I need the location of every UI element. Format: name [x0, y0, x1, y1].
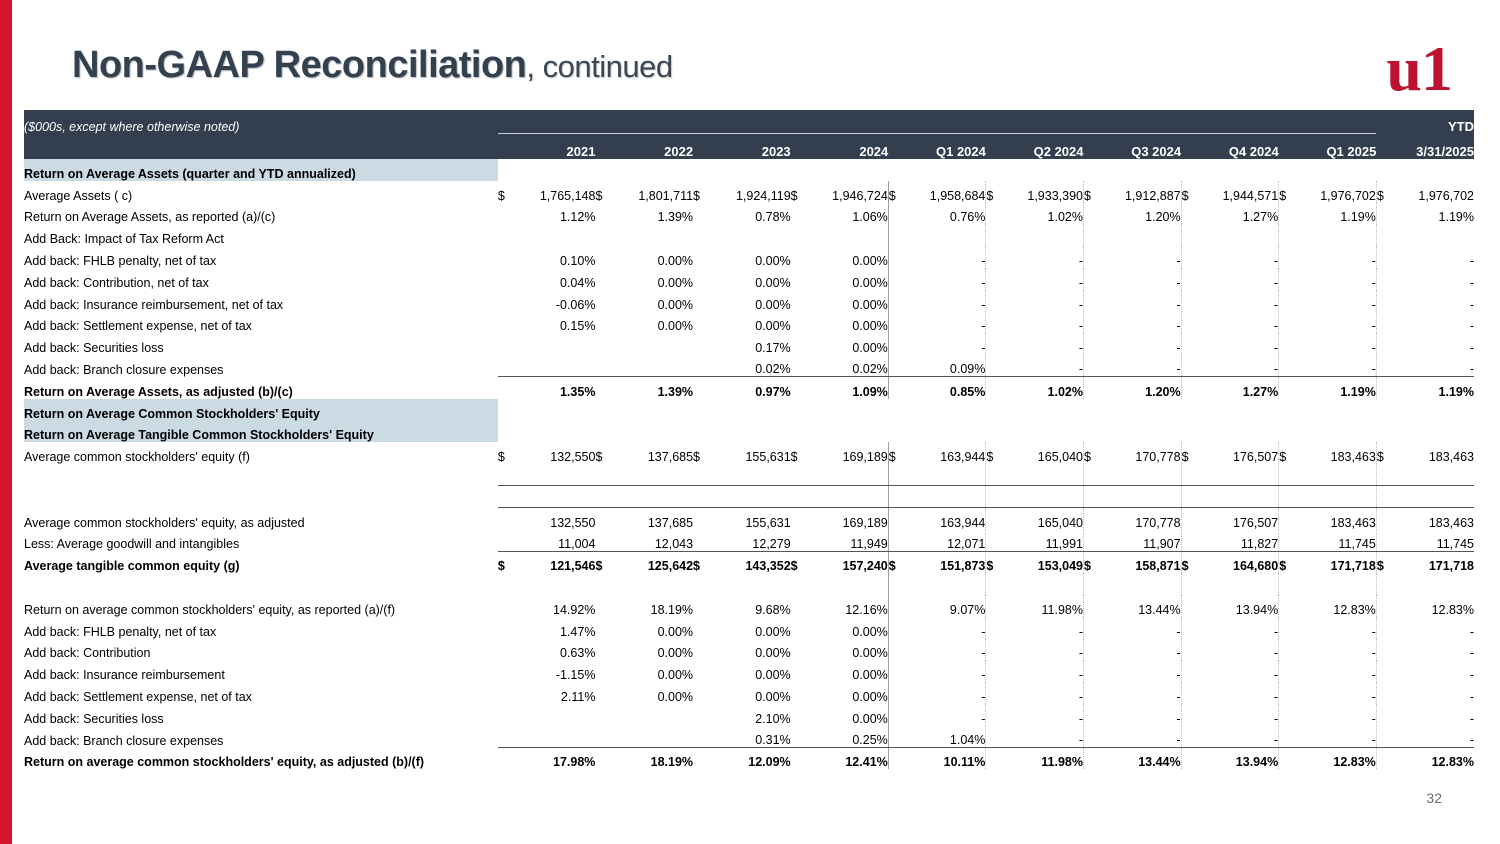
- data-cell: 18.19%: [612, 595, 693, 617]
- currency-symbol-cell: [595, 748, 611, 770]
- data-cell: 1.27%: [1197, 377, 1278, 399]
- currency-symbol-cell: [1376, 726, 1392, 748]
- currency-symbol-cell: [1376, 268, 1392, 290]
- currency-symbol-cell: [1279, 617, 1295, 639]
- currency-symbol-cell: [693, 355, 709, 377]
- currency-symbol-cell: [888, 333, 904, 355]
- currency-symbol-cell: [1279, 355, 1295, 377]
- currency-symbol-cell: [986, 508, 1002, 530]
- currency-symbol-cell: [791, 595, 807, 617]
- currency-symbol-cell: [888, 508, 904, 530]
- table-row: [24, 573, 1474, 595]
- currency-symbol-cell: [1083, 573, 1099, 595]
- data-cell: -: [1100, 312, 1181, 334]
- data-cell: 1,958,684: [905, 181, 986, 203]
- row-label: [24, 573, 498, 595]
- data-cell: [1100, 464, 1181, 486]
- currency-symbol-cell: $: [693, 551, 709, 573]
- row-label: Add back: Securities loss: [24, 704, 498, 726]
- header-spacer-cell: [1100, 110, 1181, 134]
- currency-symbol-cell: [693, 224, 709, 246]
- currency-symbol-cell: $: [498, 551, 514, 573]
- currency-symbol-cell: [888, 748, 904, 770]
- data-cell: 13.94%: [1197, 748, 1278, 770]
- data-cell: 183,463: [1295, 508, 1376, 530]
- currency-symbol-cell: [791, 639, 807, 661]
- data-cell: -: [1197, 617, 1278, 639]
- data-cell: -: [1100, 290, 1181, 312]
- data-cell: 153,049: [1002, 551, 1083, 573]
- data-cell: [514, 399, 595, 421]
- currency-symbol-cell: [1376, 639, 1392, 661]
- data-cell: 11,004: [514, 530, 595, 552]
- data-cell: [612, 704, 693, 726]
- currency-symbol-cell: [986, 704, 1002, 726]
- currency-symbol-cell: $: [1083, 551, 1099, 573]
- currency-symbol-cell: [791, 704, 807, 726]
- currency-symbol-cell: [1181, 486, 1197, 508]
- currency-symbol-cell: $: [1181, 181, 1197, 203]
- currency-symbol-cell: [498, 421, 514, 443]
- data-cell: 13.44%: [1100, 748, 1181, 770]
- currency-symbol-cell: [693, 704, 709, 726]
- data-cell: 0.02%: [807, 355, 888, 377]
- currency-symbol-cell: [498, 748, 514, 770]
- currency-symbol-cell: [693, 748, 709, 770]
- currency-symbol-cell: [498, 682, 514, 704]
- currency-symbol-cell: [595, 660, 611, 682]
- currency-symbol-cell: [693, 573, 709, 595]
- data-cell: 163,944: [905, 442, 986, 464]
- currency-symbol-cell: [693, 203, 709, 225]
- data-cell: 143,352: [709, 551, 790, 573]
- data-cell: -: [1197, 704, 1278, 726]
- data-cell: 1,765,148: [514, 181, 595, 203]
- data-cell: [514, 224, 595, 246]
- currency-symbol-cell: [595, 726, 611, 748]
- data-cell: [612, 464, 693, 486]
- data-cell: 121,546: [514, 551, 595, 573]
- data-cell: [905, 486, 986, 508]
- currency-symbol-cell: [693, 290, 709, 312]
- currency-symbol-cell: [498, 312, 514, 334]
- data-cell: -: [1295, 333, 1376, 355]
- data-cell: 183,463: [1393, 442, 1474, 464]
- row-label: Add back: Branch closure expenses: [24, 726, 498, 748]
- data-cell: [1295, 399, 1376, 421]
- currency-symbol-cell: [595, 290, 611, 312]
- data-cell: [709, 421, 790, 443]
- column-header-3-31-2025: 3/31/2025: [1393, 134, 1474, 160]
- data-cell: -: [1393, 726, 1474, 748]
- currency-symbol-cell: [1376, 224, 1392, 246]
- currency-symbol-cell: [888, 617, 904, 639]
- currency-symbol-cell: [1279, 399, 1295, 421]
- currency-symbol-cell: [693, 639, 709, 661]
- table-row: Return on average common stockholders' e…: [24, 595, 1474, 617]
- data-cell: 1.20%: [1100, 377, 1181, 399]
- data-cell: 1.35%: [514, 377, 595, 399]
- currency-symbol-cell: [498, 377, 514, 399]
- currency-symbol-cell: $: [1181, 551, 1197, 573]
- currency-symbol-cell: [595, 268, 611, 290]
- currency-symbol-cell: $: [693, 181, 709, 203]
- data-cell: [612, 486, 693, 508]
- page-number: 32: [1426, 790, 1442, 806]
- currency-symbol-cell: [1083, 159, 1099, 181]
- column-header-currency-slot: [1181, 134, 1197, 160]
- currency-symbol-cell: $: [1376, 442, 1392, 464]
- header-spacer-cell: [1002, 110, 1083, 134]
- row-label: Add back: FHLB penalty, net of tax: [24, 617, 498, 639]
- currency-symbol-cell: [1376, 246, 1392, 268]
- currency-symbol-cell: $: [888, 442, 904, 464]
- data-cell: -0.06%: [514, 290, 595, 312]
- currency-symbol-cell: [1181, 203, 1197, 225]
- currency-symbol-cell: [986, 486, 1002, 508]
- currency-symbol-cell: [888, 246, 904, 268]
- data-cell: 1.39%: [612, 203, 693, 225]
- data-cell: 12.83%: [1295, 595, 1376, 617]
- currency-symbol-cell: [791, 246, 807, 268]
- currency-symbol-cell: [791, 617, 807, 639]
- currency-symbol-cell: [1376, 660, 1392, 682]
- table-row: [24, 486, 1474, 508]
- table-note: ($000s, except where otherwise noted): [24, 110, 498, 134]
- currency-symbol-cell: [1376, 421, 1392, 443]
- data-cell: -: [1295, 682, 1376, 704]
- data-cell: 183,463: [1393, 508, 1474, 530]
- table-row: [24, 464, 1474, 486]
- header-spacer-cell: [514, 110, 595, 134]
- currency-symbol-cell: [498, 704, 514, 726]
- currency-symbol-cell: [888, 399, 904, 421]
- table-row: Average Assets ( c)$1,765,148$1,801,711$…: [24, 181, 1474, 203]
- currency-symbol-cell: [1279, 748, 1295, 770]
- currency-symbol-cell: [1181, 748, 1197, 770]
- data-cell: [514, 704, 595, 726]
- currency-symbol-cell: [1181, 290, 1197, 312]
- data-cell: -: [1393, 290, 1474, 312]
- currency-symbol-cell: [986, 203, 1002, 225]
- header-spacer-cell: [612, 110, 693, 134]
- page-title: Non-GAAP Reconciliation, continued: [72, 42, 1432, 90]
- currency-symbol-cell: [791, 377, 807, 399]
- data-cell: -: [1002, 355, 1083, 377]
- table-row: Add Back: Impact of Tax Reform Act: [24, 224, 1474, 246]
- currency-symbol-cell: [791, 333, 807, 355]
- data-cell: [1197, 159, 1278, 181]
- column-header-currency-slot: [1083, 134, 1099, 160]
- data-cell: 0.78%: [709, 203, 790, 225]
- data-cell: [807, 421, 888, 443]
- data-cell: 0.00%: [807, 268, 888, 290]
- currency-symbol-cell: [595, 486, 611, 508]
- data-cell: 1.20%: [1100, 203, 1181, 225]
- currency-symbol-cell: [693, 660, 709, 682]
- data-cell: [514, 355, 595, 377]
- currency-symbol-cell: [1181, 617, 1197, 639]
- currency-symbol-cell: [888, 682, 904, 704]
- currency-symbol-cell: [1279, 464, 1295, 486]
- currency-symbol-cell: [1279, 704, 1295, 726]
- currency-symbol-cell: [498, 639, 514, 661]
- currency-symbol-cell: [595, 682, 611, 704]
- data-cell: [1295, 486, 1376, 508]
- data-cell: 1.09%: [807, 377, 888, 399]
- data-cell: 0.00%: [807, 312, 888, 334]
- currency-symbol-cell: [986, 421, 1002, 443]
- header-spacer-cell: [1279, 110, 1295, 134]
- data-cell: [807, 159, 888, 181]
- data-cell: [709, 224, 790, 246]
- currency-symbol-cell: [1181, 333, 1197, 355]
- data-cell: -: [1295, 246, 1376, 268]
- currency-symbol-cell: [1376, 333, 1392, 355]
- currency-symbol-cell: [1181, 421, 1197, 443]
- data-cell: 1.12%: [514, 203, 595, 225]
- currency-symbol-cell: [693, 159, 709, 181]
- currency-symbol-cell: [595, 246, 611, 268]
- non-gaap-reconciliation-table: ($000s, except where otherwise noted)YTD…: [24, 110, 1474, 769]
- data-cell: 0.00%: [612, 682, 693, 704]
- data-cell: -: [1100, 660, 1181, 682]
- data-cell: -: [1295, 726, 1376, 748]
- data-cell: -: [1393, 268, 1474, 290]
- currency-symbol-cell: [693, 530, 709, 552]
- currency-symbol-cell: [498, 246, 514, 268]
- data-cell: 0.17%: [709, 333, 790, 355]
- data-cell: 1.19%: [1295, 377, 1376, 399]
- data-cell: -: [1100, 246, 1181, 268]
- currency-symbol-cell: [986, 726, 1002, 748]
- currency-symbol-cell: [693, 312, 709, 334]
- currency-symbol-cell: [1279, 530, 1295, 552]
- currency-symbol-cell: [1083, 726, 1099, 748]
- currency-symbol-cell: [986, 639, 1002, 661]
- data-cell: [612, 421, 693, 443]
- data-cell: 171,718: [1393, 551, 1474, 573]
- currency-symbol-cell: $: [791, 442, 807, 464]
- currency-symbol-cell: [1083, 399, 1099, 421]
- data-cell: -: [1393, 617, 1474, 639]
- currency-symbol-cell: [1376, 399, 1392, 421]
- currency-symbol-cell: [498, 530, 514, 552]
- table-note-row: ($000s, except where otherwise noted)YTD: [24, 110, 1474, 134]
- currency-symbol-cell: [791, 312, 807, 334]
- currency-symbol-cell: [498, 464, 514, 486]
- currency-symbol-cell: [791, 726, 807, 748]
- data-cell: 125,642: [612, 551, 693, 573]
- header-spacer-cell: [1376, 110, 1392, 134]
- currency-symbol-cell: [888, 290, 904, 312]
- data-cell: 1,933,390: [1002, 181, 1083, 203]
- currency-symbol-cell: [791, 682, 807, 704]
- currency-symbol-cell: [1181, 660, 1197, 682]
- data-cell: [1002, 464, 1083, 486]
- currency-symbol-cell: $: [986, 181, 1002, 203]
- data-cell: -: [1393, 704, 1474, 726]
- currency-symbol-cell: [791, 464, 807, 486]
- section-header-label: Return on Average Common Stockholders' E…: [24, 399, 498, 421]
- data-cell: -: [905, 617, 986, 639]
- currency-symbol-cell: [693, 399, 709, 421]
- data-cell: [709, 486, 790, 508]
- data-cell: -: [1002, 246, 1083, 268]
- data-cell: [709, 573, 790, 595]
- data-cell: -: [1197, 682, 1278, 704]
- currency-symbol-cell: [1279, 726, 1295, 748]
- currency-symbol-cell: [986, 530, 1002, 552]
- currency-symbol-cell: [1376, 290, 1392, 312]
- row-label: Add back: Branch closure expenses: [24, 355, 498, 377]
- currency-symbol-cell: [1376, 573, 1392, 595]
- currency-symbol-cell: [1279, 573, 1295, 595]
- row-label: Add back: Contribution, net of tax: [24, 268, 498, 290]
- header-spacer-cell: [807, 110, 888, 134]
- currency-symbol-cell: [1181, 508, 1197, 530]
- data-cell: [1295, 159, 1376, 181]
- currency-symbol-cell: [595, 377, 611, 399]
- currency-symbol-cell: [986, 748, 1002, 770]
- data-cell: 0.76%: [905, 203, 986, 225]
- data-cell: [612, 224, 693, 246]
- currency-symbol-cell: [595, 203, 611, 225]
- currency-symbol-cell: [1181, 399, 1197, 421]
- data-cell: 12,043: [612, 530, 693, 552]
- currency-symbol-cell: [1376, 682, 1392, 704]
- data-cell: [1197, 399, 1278, 421]
- table-row: Add back: Contribution, net of tax0.04%0…: [24, 268, 1474, 290]
- currency-symbol-cell: [888, 595, 904, 617]
- data-cell: [514, 333, 595, 355]
- data-cell: 11.98%: [1002, 748, 1083, 770]
- currency-symbol-cell: [1279, 639, 1295, 661]
- currency-symbol-cell: [693, 377, 709, 399]
- currency-symbol-cell: [888, 203, 904, 225]
- data-cell: 12.41%: [807, 748, 888, 770]
- currency-symbol-cell: [1181, 726, 1197, 748]
- currency-symbol-cell: [1181, 464, 1197, 486]
- currency-symbol-cell: [1376, 312, 1392, 334]
- data-cell: [612, 159, 693, 181]
- currency-symbol-cell: [1083, 203, 1099, 225]
- currency-symbol-cell: [1181, 224, 1197, 246]
- data-cell: 0.00%: [709, 617, 790, 639]
- data-cell: 1,944,571: [1197, 181, 1278, 203]
- header-spacer-cell: [1181, 110, 1197, 134]
- data-cell: -: [905, 333, 986, 355]
- currency-symbol-cell: [1279, 333, 1295, 355]
- currency-symbol-cell: [498, 224, 514, 246]
- currency-symbol-cell: [1083, 312, 1099, 334]
- table-row: Add back: Settlement expense, net of tax…: [24, 682, 1474, 704]
- data-cell: 1.02%: [1002, 377, 1083, 399]
- currency-symbol-cell: [498, 617, 514, 639]
- currency-symbol-cell: [791, 290, 807, 312]
- currency-symbol-cell: $: [1083, 181, 1099, 203]
- data-cell: 163,944: [905, 508, 986, 530]
- data-cell: 0.00%: [807, 639, 888, 661]
- header-spacer-cell: [498, 110, 514, 134]
- data-cell: 0.00%: [807, 682, 888, 704]
- currency-symbol-cell: [498, 203, 514, 225]
- currency-symbol-cell: [1083, 377, 1099, 399]
- data-cell: 132,550: [514, 508, 595, 530]
- data-cell: -: [905, 660, 986, 682]
- data-cell: 1.47%: [514, 617, 595, 639]
- data-cell: -: [905, 268, 986, 290]
- data-cell: 137,685: [612, 442, 693, 464]
- data-cell: 170,778: [1100, 442, 1181, 464]
- currency-symbol-cell: $: [888, 551, 904, 573]
- data-cell: [807, 399, 888, 421]
- data-cell: 0.00%: [709, 682, 790, 704]
- data-cell: 183,463: [1295, 442, 1376, 464]
- data-cell: -: [1295, 704, 1376, 726]
- row-label: Add back: FHLB penalty, net of tax: [24, 246, 498, 268]
- data-cell: 0.00%: [612, 617, 693, 639]
- row-label: Return on average common stockholders' e…: [24, 748, 498, 770]
- data-cell: [905, 421, 986, 443]
- data-cell: 171,718: [1295, 551, 1376, 573]
- data-cell: -: [1002, 660, 1083, 682]
- data-cell: 11,991: [1002, 530, 1083, 552]
- currency-symbol-cell: $: [595, 551, 611, 573]
- currency-symbol-cell: [693, 682, 709, 704]
- data-cell: 0.10%: [514, 246, 595, 268]
- header-spacer-cell: [1083, 110, 1099, 134]
- table-row: Average common stockholders' equity, as …: [24, 508, 1474, 530]
- data-cell: 0.00%: [807, 246, 888, 268]
- currency-symbol-cell: [1279, 268, 1295, 290]
- data-cell: [905, 573, 986, 595]
- currency-symbol-cell: [1279, 682, 1295, 704]
- currency-symbol-cell: [888, 355, 904, 377]
- currency-symbol-cell: [888, 464, 904, 486]
- data-cell: 169,189: [807, 442, 888, 464]
- currency-symbol-cell: [1181, 355, 1197, 377]
- currency-symbol-cell: [595, 355, 611, 377]
- row-label: Return on Average Assets, as adjusted (b…: [24, 377, 498, 399]
- data-cell: [1295, 421, 1376, 443]
- currency-symbol-cell: [888, 421, 904, 443]
- column-header-currency-slot: [498, 134, 514, 160]
- column-header-currency-slot: [1279, 134, 1295, 160]
- data-cell: [1002, 573, 1083, 595]
- data-cell: 11,745: [1295, 530, 1376, 552]
- column-header-currency-slot: [595, 134, 611, 160]
- column-header-row: 2021202220232024Q1 2024Q2 2024Q3 2024Q4 …: [24, 134, 1474, 160]
- data-cell: -: [1197, 312, 1278, 334]
- column-header-currency-slot: [791, 134, 807, 160]
- data-cell: 0.25%: [807, 726, 888, 748]
- data-cell: 0.04%: [514, 268, 595, 290]
- data-cell: -: [1393, 639, 1474, 661]
- data-cell: -: [1002, 704, 1083, 726]
- data-cell: [514, 421, 595, 443]
- data-cell: [1295, 573, 1376, 595]
- data-cell: 158,871: [1100, 551, 1181, 573]
- data-cell: [612, 726, 693, 748]
- data-cell: -: [1197, 268, 1278, 290]
- currency-symbol-cell: [888, 660, 904, 682]
- column-header-currency-slot: [888, 134, 904, 160]
- currency-symbol-cell: [1181, 530, 1197, 552]
- currency-symbol-cell: [1279, 246, 1295, 268]
- currency-symbol-cell: [693, 464, 709, 486]
- row-label: Add back: Insurance reimbursement, net o…: [24, 290, 498, 312]
